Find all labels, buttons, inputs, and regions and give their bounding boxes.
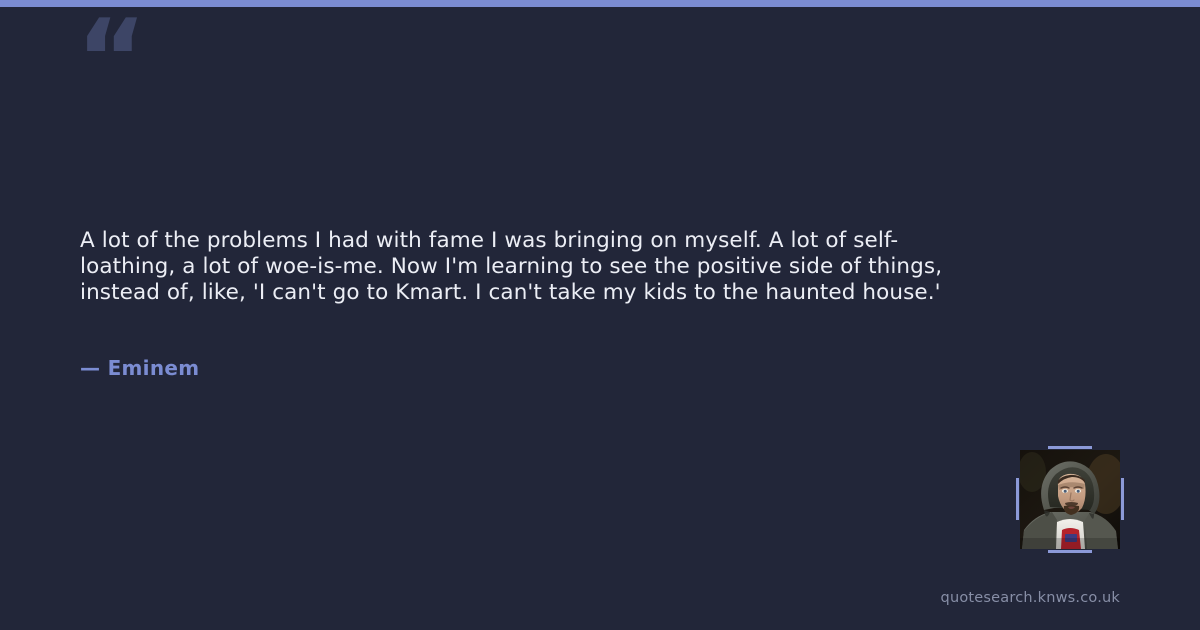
author-portrait [1020, 450, 1120, 549]
portrait-accent-tick-right [1121, 478, 1124, 520]
quote-text: A lot of the problems I had with fame I … [80, 228, 985, 306]
author-portrait-image [1020, 450, 1120, 549]
top-accent-bar [0, 0, 1200, 7]
portrait-accent-tick-bottom [1048, 550, 1092, 553]
author-attribution: — Eminem [80, 356, 199, 380]
opening-quotation-mark-icon: “ [76, 6, 145, 114]
portrait-accent-tick-top [1048, 446, 1092, 449]
site-watermark: quotesearch.knws.co.uk [941, 590, 1120, 606]
portrait-accent-tick-left [1016, 478, 1019, 520]
